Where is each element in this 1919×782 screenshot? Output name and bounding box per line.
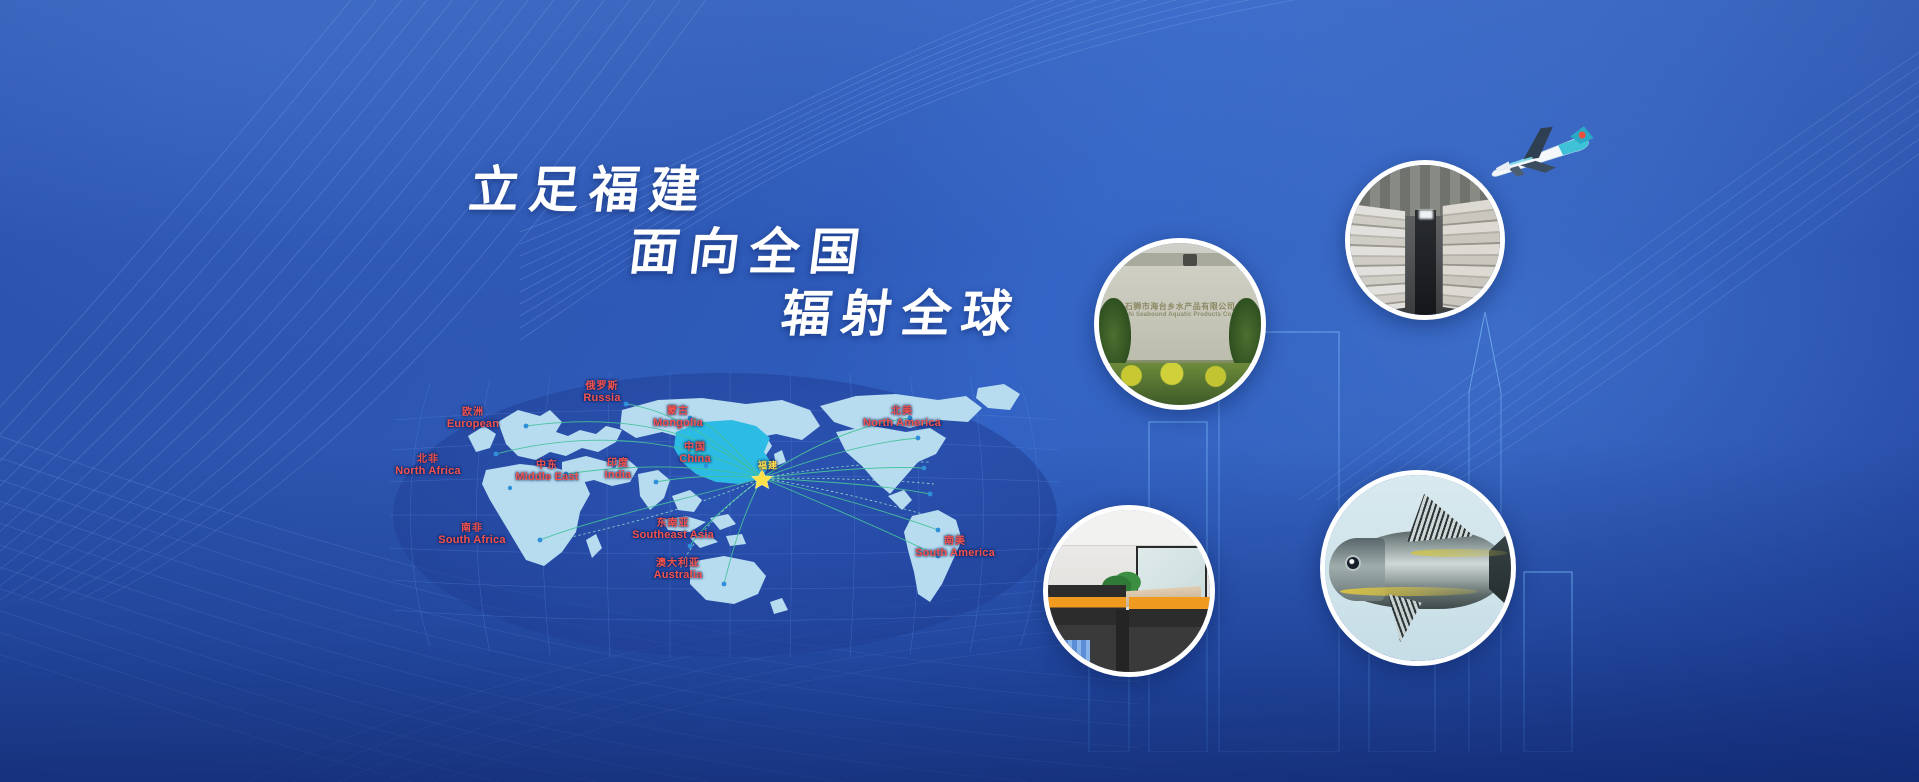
company-banner: 立足福建 面向全国 辐射全球 xyxy=(0,0,1919,782)
photo-office-interior[interactable] xyxy=(1043,505,1215,677)
fish-yellow-band xyxy=(1340,587,1478,596)
headline-line-3: 辐射全球 xyxy=(778,274,1027,346)
warehouse-aisle xyxy=(1415,210,1436,315)
sign-floodlight-icon xyxy=(1183,254,1197,266)
office-ceiling xyxy=(1048,510,1210,546)
warehouse-pallet-stack-right xyxy=(1443,198,1500,315)
world-map: 俄罗斯Russia 蒙古Mongolia 中国China 欧洲European … xyxy=(390,370,1060,660)
sign-bush-left xyxy=(1096,298,1132,373)
photo-cold-storage-warehouse[interactable] xyxy=(1345,160,1505,320)
fish-lateral-stripe xyxy=(1411,549,1508,556)
sign-bush-right xyxy=(1229,298,1265,373)
photo-tuna-fish-product[interactable] xyxy=(1320,470,1516,666)
photo-company-gate-sign[interactable]: 石狮市海台乡水产品有限公司 Shishi Seabound Aquatic Pr… xyxy=(1094,238,1266,410)
sign-flower-hedge xyxy=(1099,363,1261,405)
headline-block: 立足福建 面向全国 辐射全球 xyxy=(470,150,1110,350)
office-binders xyxy=(1054,640,1090,666)
warehouse-ceiling-light xyxy=(1419,210,1433,219)
warehouse-pallet-stack-left xyxy=(1350,204,1405,315)
office-cubicle-right xyxy=(1129,597,1215,672)
world-map-svg xyxy=(390,370,1060,660)
